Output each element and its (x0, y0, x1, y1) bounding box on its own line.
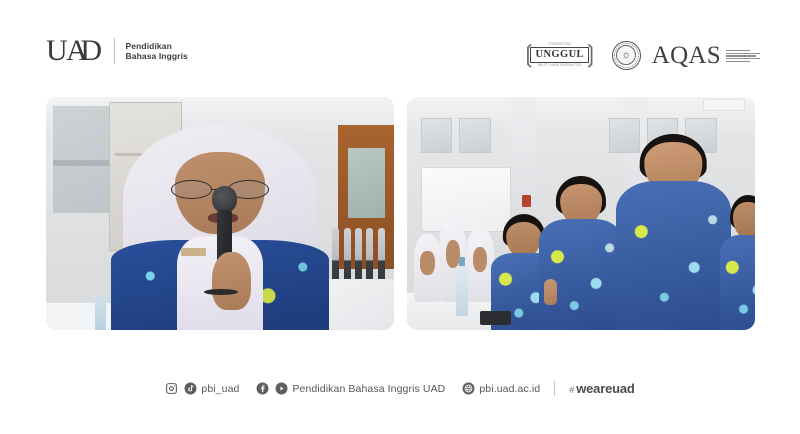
water-bottle (95, 297, 106, 330)
card-footer: pbi_uad Pendidikan Bahasa Inggris UAD pb… (0, 381, 800, 396)
program-name: Pendidikan Bahasa Inggris (126, 41, 188, 62)
accreditation-logos: ❲ ❳ TERAKREDITASI UNGGUL BAN-PT / LAMDIK… (519, 38, 760, 72)
hand (212, 252, 251, 309)
hashtag-word: weareuad (576, 381, 634, 396)
muhammadiyah-seal-icon: ☼ (612, 41, 641, 70)
aqas-caption-lines (726, 48, 760, 62)
photo-gallery (46, 97, 755, 330)
speaking-student (123, 125, 318, 330)
facebook-icon[interactable] (256, 382, 269, 395)
footer-divider (554, 381, 555, 396)
tiktok-link[interactable]: pbi_uad (184, 382, 239, 395)
page-name: Pendidikan Bahasa Inggris UAD (292, 383, 445, 395)
aqas-caption-line-5 (726, 61, 750, 62)
unggul-bottom-text: BAN-PT / LAMDIK PROGRAM STUDI (538, 63, 581, 67)
facebook-link[interactable] (256, 382, 269, 395)
social-handle: pbi_uad (201, 383, 239, 395)
program-name-line1: Pendidikan (126, 41, 188, 52)
thumbs-up-hand (544, 279, 557, 305)
uad-brand-lockup: U A D Pendidikan Bahasa Inggris (46, 36, 188, 66)
student-foreground (616, 134, 731, 330)
aqas-logo: AQAS (652, 43, 760, 68)
uad-letter-u: U (46, 36, 67, 66)
aqas-caption-line-4 (726, 58, 760, 59)
tiktok-icon[interactable] (184, 382, 197, 395)
aqas-wordmark: AQAS (652, 43, 721, 68)
website-link[interactable]: pbi.uad.ac.id (462, 382, 540, 395)
student-far-right (720, 195, 755, 330)
transom-window (459, 118, 490, 153)
youtube-link[interactable]: Pendidikan Bahasa Inggris UAD (275, 382, 445, 395)
hashtag-weareuad: # weareuad (569, 381, 634, 396)
seal-sun-glyph: ☼ (612, 41, 641, 70)
hashtag-symbol: # (569, 385, 574, 395)
uad-logo-wordmark: U A D (46, 36, 102, 66)
water-bottle (456, 265, 468, 316)
youtube-icon[interactable] (275, 382, 288, 395)
card-header: U A D Pendidikan Bahasa Inggris ❲ ❳ TERA… (0, 0, 800, 92)
unggul-word: UNGGUL (530, 47, 589, 63)
smartphone (480, 311, 511, 325)
transom-window (421, 118, 452, 153)
name-tag (181, 248, 206, 256)
aqas-caption-line-3 (726, 55, 756, 56)
photo-student-speaking-with-microphone (46, 97, 394, 330)
instagram-link[interactable] (165, 382, 178, 395)
globe-icon[interactable] (462, 382, 475, 395)
instagram-icon[interactable] (165, 382, 178, 395)
aqas-caption-line-1 (726, 50, 750, 51)
unggul-accreditation-badge: ❲ ❳ TERAKREDITASI UNGGUL BAN-PT / LAMDIK… (519, 38, 601, 72)
unggul-top-text: TERAKREDITASI (548, 43, 571, 47)
photo-students-in-classroom-thumbs-up (407, 97, 755, 330)
aqas-caption-line-2 (726, 53, 760, 54)
student-thumbs-up (539, 176, 623, 330)
social-media-card: U A D Pendidikan Bahasa Inggris ❲ ❳ TERA… (0, 0, 800, 434)
uad-letter-d: D (80, 36, 101, 66)
website-url: pbi.uad.ac.id (479, 383, 540, 395)
brand-divider (114, 38, 115, 64)
program-name-line2: Bahasa Inggris (126, 51, 188, 62)
